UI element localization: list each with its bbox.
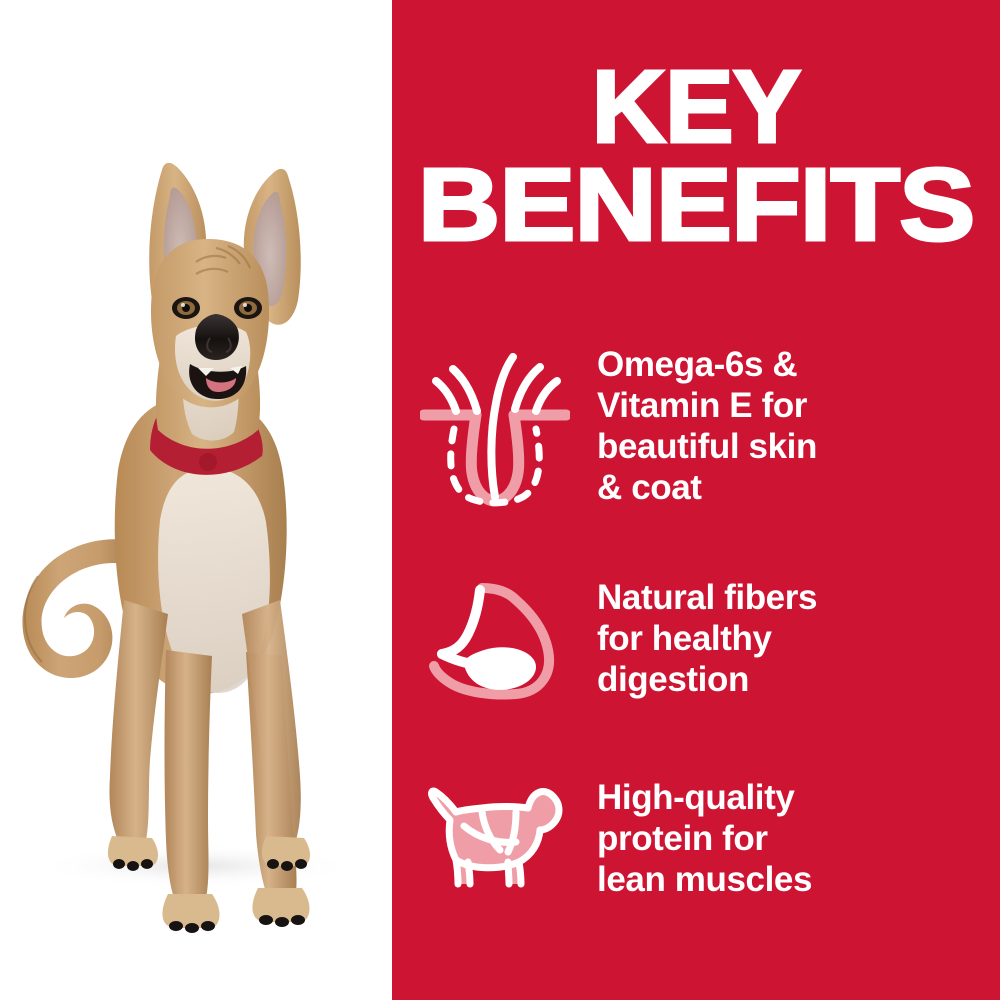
stomach-duodenum-outer [434, 666, 452, 684]
benefit-text-digestion: Natural fibers for healthy digestion [597, 578, 1000, 701]
dog-eye-right-glint [243, 303, 247, 307]
benefit-icon-slot [392, 778, 597, 892]
benefit-line: Vitamin E for [597, 386, 984, 427]
benefit-text-skin-coat: Omega-6s & Vitamin E for beautiful skin … [597, 345, 1000, 509]
title-line-key: KEY [392, 58, 1000, 156]
key-benefits-panel: KEY BENEFITS [392, 0, 1000, 1000]
benefit-item-digestion: Natural fibers for healthy digestion [392, 578, 1000, 702]
benefit-line: Omega-6s & [597, 345, 984, 386]
hair-strand-center [491, 357, 513, 497]
dog-leg-back-left [109, 600, 168, 840]
dog-photo-image [0, 0, 392, 1000]
benefit-icon-slot [392, 578, 597, 702]
benefit-line: Natural fibers [597, 578, 984, 619]
page-title: KEY BENEFITS [392, 58, 1000, 254]
dog-photo-panel [0, 0, 392, 1000]
stomach-icon [420, 582, 570, 702]
dog-collar-buckle [199, 453, 217, 471]
benefit-line: beautiful skin [597, 427, 984, 468]
dog-eye-left-glint [181, 303, 185, 307]
key-benefits-banner: KEY BENEFITS [0, 0, 1000, 1000]
benefit-line: protein for [597, 819, 984, 860]
benefit-line: & coat [597, 468, 984, 509]
benefit-text-protein: High-quality protein for lean muscles [597, 778, 1000, 901]
hair-follicle-icon [420, 349, 570, 511]
stomach-contents [464, 647, 536, 690]
hair-strand-right-outer [536, 381, 557, 411]
dog-leg-front-left [165, 650, 213, 898]
benefit-icon-slot [392, 345, 597, 511]
benefit-item-protein: High-quality protein for lean muscles [392, 778, 1000, 901]
benefit-line: for healthy [597, 619, 984, 660]
hair-strand-left-outer [436, 381, 456, 411]
benefit-item-skin-coat: Omega-6s & Vitamin E for beautiful skin … [392, 345, 1000, 511]
benefit-line: lean muscles [597, 860, 984, 901]
stomach-esophagus [442, 590, 480, 654]
benefit-line: digestion [597, 660, 984, 701]
dog-muscle-icon [420, 782, 570, 892]
benefit-line: High-quality [597, 778, 984, 819]
title-line-benefits: BENEFITS [359, 156, 1000, 254]
